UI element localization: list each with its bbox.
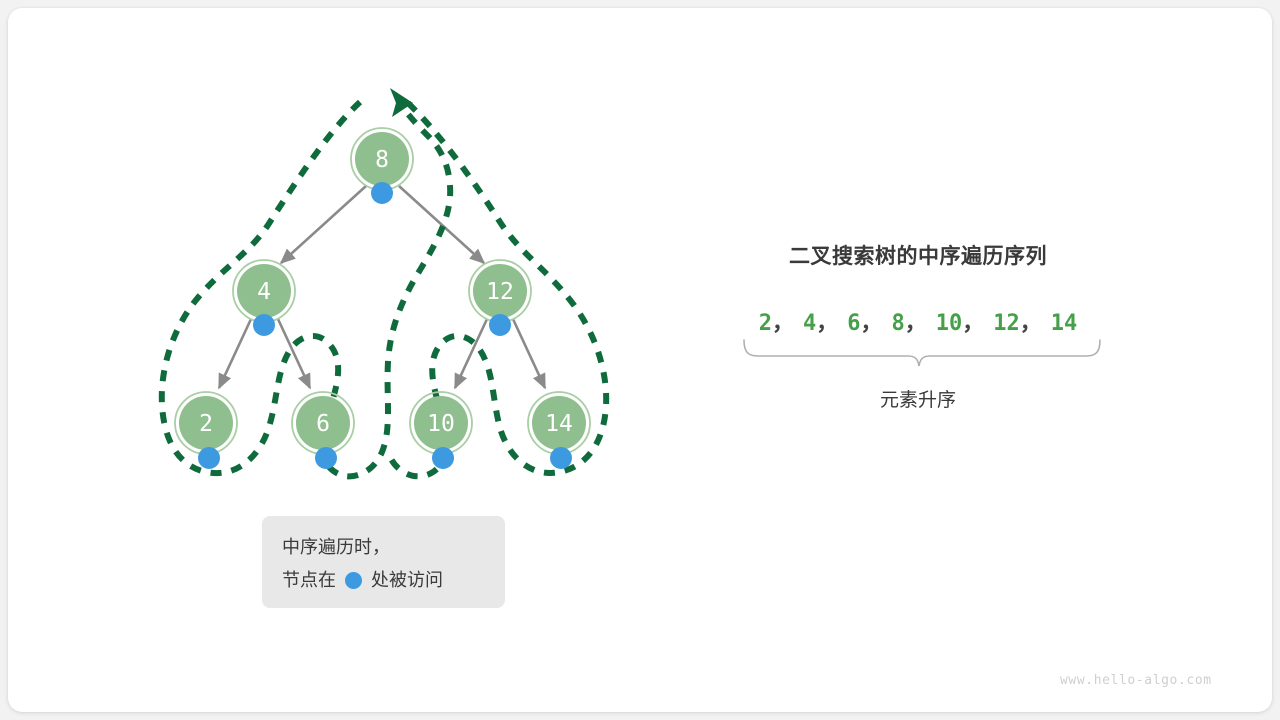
tree-node-4[interactable]: 4 — [233, 260, 295, 336]
sequence-brace — [744, 340, 1100, 366]
node-label: 6 — [316, 411, 330, 437]
legend-line-2: 节点在 处被访问 — [282, 571, 443, 589]
tree-node-14[interactable]: 14 — [528, 392, 590, 469]
sequence-item-6: 14 — [1051, 311, 1078, 336]
legend-line-2-suffix: 处被访问 — [371, 571, 443, 589]
sequence-separator: ， — [905, 311, 927, 336]
sequence-separator: ， — [962, 311, 984, 336]
visit-dot — [489, 314, 511, 336]
node-label: 2 — [199, 411, 213, 437]
brace-label: 元素升序 — [700, 385, 1136, 412]
visit-dot-icon — [345, 572, 362, 589]
sequence-item-4: 10 — [936, 311, 963, 336]
edge-4-6 — [278, 319, 310, 388]
sequence-separator: ， — [772, 311, 794, 336]
edge-4-2 — [219, 319, 251, 388]
visit-dot — [315, 447, 337, 469]
node-label: 8 — [375, 147, 389, 173]
tree-nodes: 8 4 12 2 — [175, 128, 590, 469]
sequence-separator: ， — [1020, 311, 1042, 336]
legend-line-1: 中序遍历时， — [282, 538, 390, 556]
inorder-sequence: 2，4，6，8，10，12，14 — [700, 305, 1136, 337]
node-label: 4 — [257, 279, 271, 305]
visit-dot — [198, 447, 220, 469]
sequence-separator: ， — [816, 311, 838, 336]
edge-12-14 — [513, 319, 545, 388]
panel-title: 二叉搜索树的中序遍历序列 — [700, 240, 1136, 270]
bst-inorder-traversal-diagram: 8 4 12 2 — [0, 0, 1280, 720]
visit-dot — [550, 447, 572, 469]
visit-dot — [432, 447, 454, 469]
legend-box: 中序遍历时， 节点在 处被访问 — [262, 516, 505, 608]
sequence-item-5: 12 — [993, 311, 1020, 336]
tree-node-6[interactable]: 6 — [292, 392, 354, 469]
node-label: 12 — [486, 279, 514, 305]
edge-8-4 — [281, 186, 366, 263]
legend-line-2-prefix: 节点在 — [282, 571, 336, 589]
sequence-separator: ， — [860, 311, 882, 336]
node-label: 10 — [427, 411, 455, 437]
traversal-start-arrow — [390, 88, 413, 117]
sequence-item-2: 6 — [847, 311, 860, 336]
figure-stage: 8 4 12 2 — [0, 0, 1280, 720]
sequence-item-3: 8 — [892, 311, 905, 336]
watermark: www.hello-algo.com — [1060, 673, 1212, 688]
visit-dot — [253, 314, 275, 336]
visit-dot — [371, 182, 393, 204]
edge-8-12 — [399, 186, 484, 263]
sequence-item-1: 4 — [803, 311, 816, 336]
tree-node-12[interactable]: 12 — [469, 260, 531, 336]
node-label: 14 — [545, 411, 573, 437]
sequence-item-0: 2 — [759, 311, 772, 336]
tree-node-10[interactable]: 10 — [410, 392, 472, 469]
